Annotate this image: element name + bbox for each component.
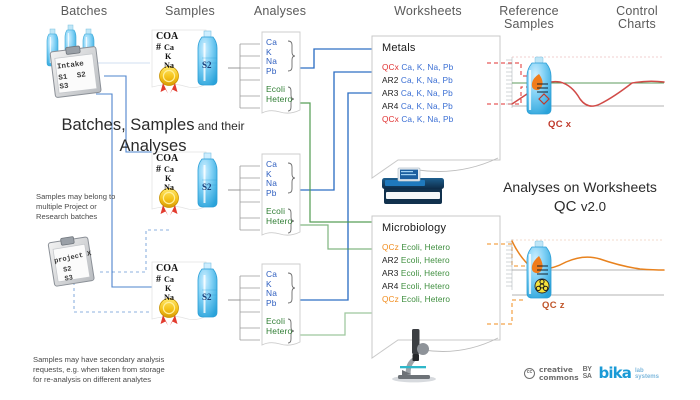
- row-analytes: Ca, K, Na, Pb: [401, 88, 453, 98]
- page-title-line1b: and their: [194, 119, 244, 133]
- batch-clipboard-samples: S1 S2 S3: [58, 71, 87, 91]
- worksheet-title: Metals: [374, 38, 498, 57]
- coa-analyte-na: Na: [164, 61, 174, 70]
- bottle-label: S2: [202, 60, 212, 70]
- analyser-icon: [382, 168, 444, 204]
- analyses-ladders: [240, 44, 260, 340]
- analyses-1: Ca K Na Pb Ecoli Hetero: [266, 38, 292, 105]
- bottle-label: S2: [202, 292, 212, 302]
- award-seal-icon: [160, 67, 179, 94]
- creative-commons-icon: cc: [524, 368, 535, 379]
- creative-commons-wordmark[interactable]: creative commons: [539, 366, 579, 381]
- worksheet-row[interactable]: AR4 Ca, K, Na, Pb: [374, 99, 498, 112]
- row-analytes: Ecoli, Hetero: [401, 255, 450, 265]
- sample-bottle-icon: [198, 31, 217, 85]
- row-analytes: Ca, K, Na, Pb: [401, 75, 453, 85]
- coa-analyte-k: K: [165, 174, 171, 183]
- worksheet-row[interactable]: AR2 Ecoli, Hetero: [374, 253, 498, 266]
- control-chart-qcx: [506, 57, 664, 114]
- row-code: AR4: [382, 101, 398, 111]
- award-seal-icon: [160, 299, 179, 326]
- row-analytes: Ecoli, Hetero: [401, 281, 450, 291]
- sample-analysis-links: [228, 68, 240, 300]
- caption-secondary-requests: Samples may have secondary analysis requ…: [33, 355, 248, 385]
- coa-analyte-na: Na: [164, 293, 174, 302]
- batch-sample-s3: S3: [59, 82, 69, 91]
- footer-logos: cc creative commons BY SA bika lab syste…: [524, 366, 659, 381]
- batch-sample-links: [92, 63, 152, 287]
- row-code: QCx: [382, 62, 399, 72]
- worksheet-row[interactable]: QCz Ecoli, Hetero: [374, 292, 498, 305]
- analysis-hetero[interactable]: Hetero: [266, 327, 292, 337]
- biohazard-bottle-icon: [527, 241, 551, 298]
- cc-line2: commons: [539, 373, 579, 382]
- analysis-pb[interactable]: Pb: [266, 189, 292, 199]
- worksheet-row[interactable]: QCx Ca, K, Na, Pb: [374, 112, 498, 125]
- row-code: AR2: [382, 255, 398, 265]
- metals-links: [300, 49, 372, 300]
- row-code: QCz: [382, 242, 399, 252]
- right-title-qc: QC: [554, 198, 577, 215]
- worksheet-row[interactable]: AR3 Ecoli, Hetero: [374, 266, 498, 279]
- control-chart-qcz: [506, 239, 664, 298]
- analysis-pb[interactable]: Pb: [266, 299, 292, 309]
- worksheet-row[interactable]: AR3 Ca, K, Na, Pb: [374, 86, 498, 99]
- chart-qcx-label: QC x: [548, 119, 571, 130]
- row-analytes: Ca, K, Na, Pb: [401, 62, 453, 72]
- coa-analyte-k: K: [165, 284, 171, 293]
- bottle-label: S2: [202, 182, 212, 192]
- page-title-line2: Analyses: [120, 137, 187, 155]
- analysis-hetero[interactable]: Hetero: [266, 95, 292, 105]
- row-analytes: Ca, K, Na, Pb: [401, 114, 453, 124]
- page-title-line1: Batches, Samples: [61, 116, 194, 134]
- row-analytes: Ca, K, Na, Pb: [401, 101, 453, 111]
- coa-analyte-ca: Ca: [164, 165, 174, 174]
- row-analytes: Ecoli, Hetero: [401, 242, 450, 252]
- right-title-line1b: on Worksheets: [560, 179, 657, 195]
- worksheet-row[interactable]: AR4 Ecoli, Hetero: [374, 279, 498, 292]
- row-analytes: Ecoli, Hetero: [401, 268, 450, 278]
- chart-qcz-label: QC z: [542, 300, 565, 311]
- row-code: QCx: [382, 114, 399, 124]
- coa-analyte-na: Na: [164, 183, 174, 192]
- batch-sample-s2: S2: [76, 71, 86, 80]
- sample-bottle-icon: [198, 153, 217, 207]
- right-title: Analyses on Worksheets QC v2.0: [480, 178, 680, 216]
- worksheet-row[interactable]: QCx Ca, K, Na, Pb: [374, 60, 498, 73]
- coa-analyte-k: K: [165, 52, 171, 61]
- analyses-2: Ca K Na Pb Ecoli Hetero: [266, 160, 292, 227]
- row-code: AR4: [382, 281, 398, 291]
- bika-tagline: lab systems: [635, 368, 659, 380]
- bika-tagline-line2: systems: [635, 374, 659, 380]
- worksheet-row[interactable]: AR2 Ca, K, Na, Pb: [374, 73, 498, 86]
- row-analytes: Ecoli, Hetero: [401, 294, 450, 304]
- sample-bottle-icon: [198, 263, 217, 317]
- worksheet-title: Microbiology: [374, 218, 498, 237]
- row-code: QCz: [382, 294, 399, 304]
- analysis-hetero[interactable]: Hetero: [266, 217, 292, 227]
- diagram-canvas: Batches Samples Analyses Worksheets Refe…: [0, 0, 700, 400]
- row-code: AR2: [382, 75, 398, 85]
- flammable-bottle-icon: [527, 57, 551, 114]
- row-code: AR3: [382, 268, 398, 278]
- bika-wordmark[interactable]: bika: [599, 366, 631, 381]
- coa-analyte-ca: Ca: [164, 43, 174, 52]
- right-title-version: v2.0: [581, 199, 606, 214]
- coa-analyte-ca: Ca: [164, 275, 174, 284]
- cc-license-badge: BY SA: [583, 367, 592, 380]
- analyses-3: Ca K Na Pb Ecoli Hetero: [266, 270, 292, 337]
- analysis-pb[interactable]: Pb: [266, 67, 292, 77]
- worksheet-row[interactable]: QCz Ecoli, Hetero: [374, 240, 498, 253]
- project-sample-s3: S3: [64, 274, 74, 283]
- worksheet-metals[interactable]: Metals QCx Ca, K, Na, Pb AR2 Ca, K, Na, …: [374, 38, 498, 125]
- page-title: Batches, Samples and their Analyses: [38, 115, 268, 157]
- right-title-line1a: Analyses: [503, 179, 560, 195]
- caption-multi-batch: Samples may belong to multiple Project o…: [36, 192, 166, 222]
- worksheet-microbiology[interactable]: Microbiology QCz Ecoli, Hetero AR2 Ecoli…: [374, 218, 498, 305]
- row-code: AR3: [382, 88, 398, 98]
